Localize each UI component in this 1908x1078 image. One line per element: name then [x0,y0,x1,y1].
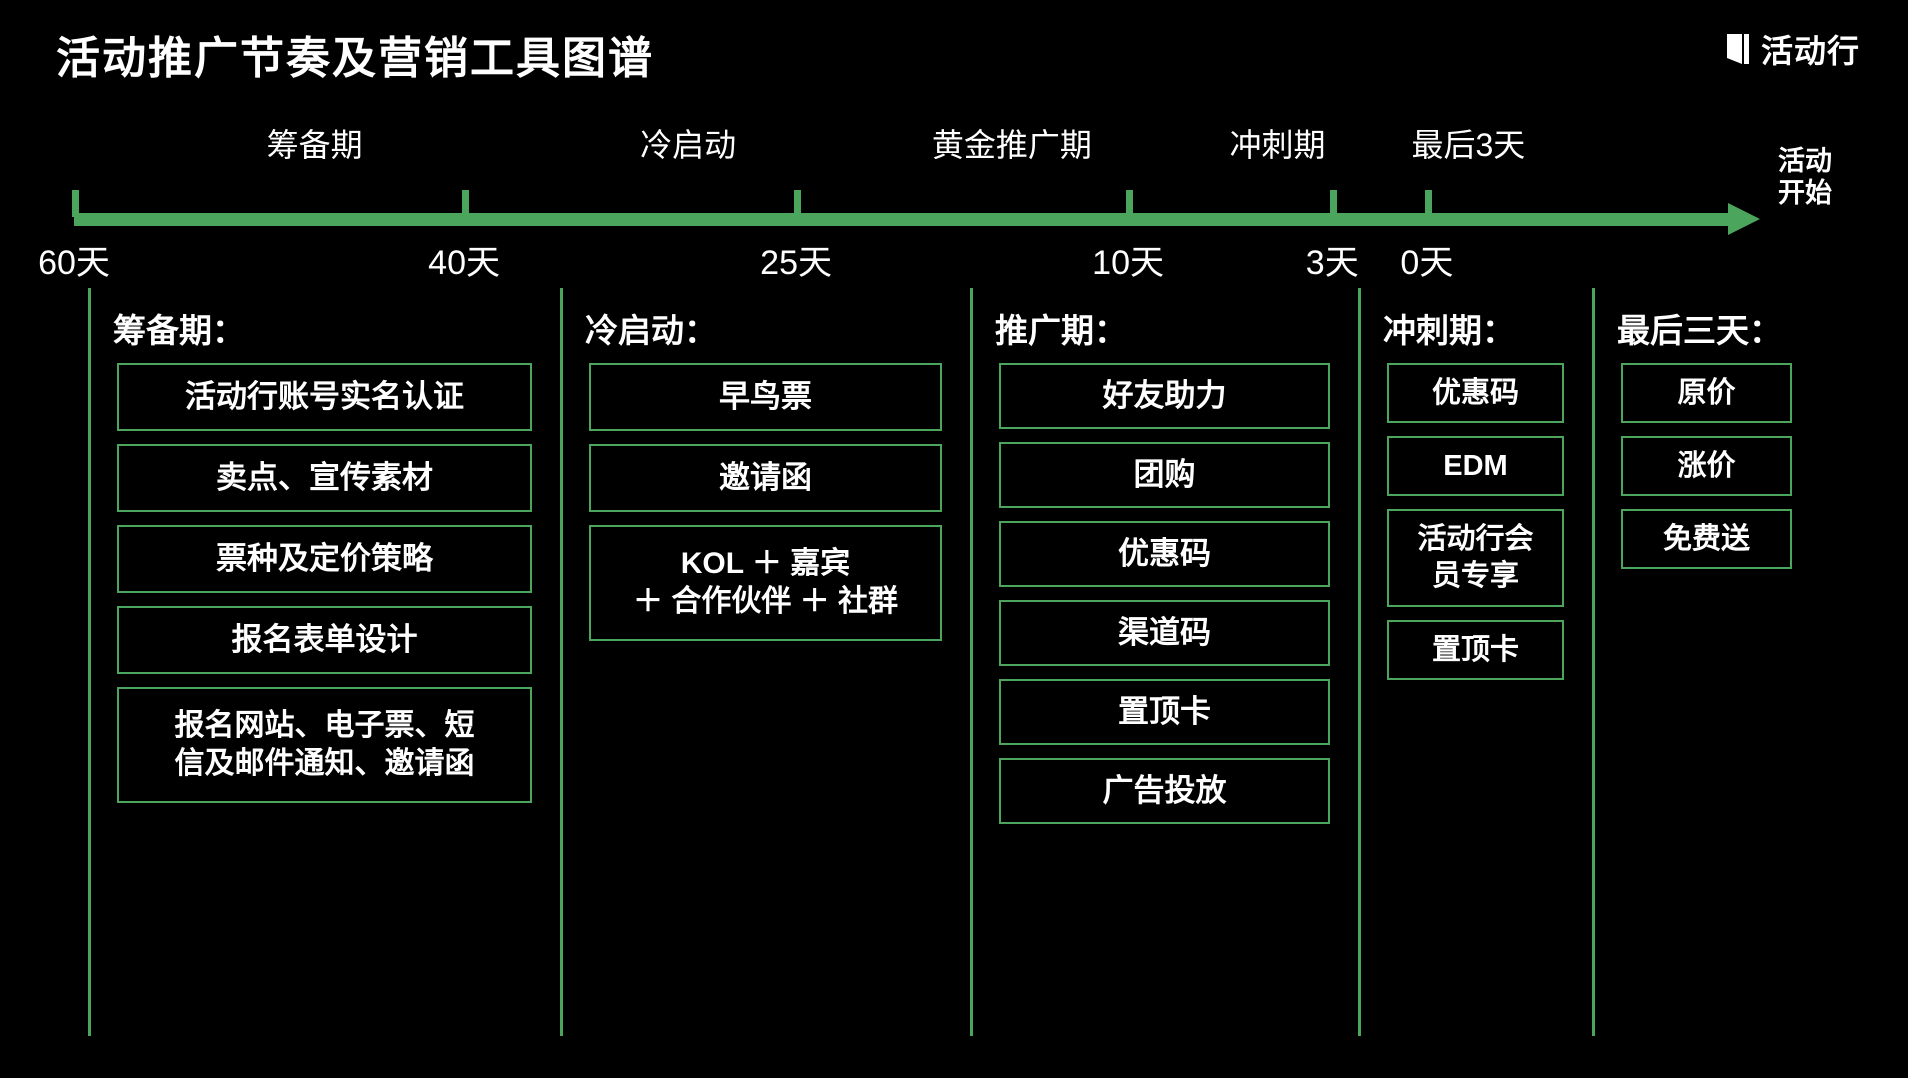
timeline-phase-label: 冲刺期 [1229,120,1325,166]
phase-columns: 筹备期：活动行账号实名认证卖点、宣传素材票种及定价策略报名表单设计报名网站、电子… [0,288,1908,1048]
phase-item-box[interactable]: 活动行会 员专享 [1387,509,1564,607]
timeline-tick [1330,190,1337,217]
timeline-arrow-icon [1728,203,1760,235]
phase-item-box[interactable]: 置顶卡 [999,679,1330,745]
brand-name: 活动行 [1761,26,1860,72]
phase-column: 冲刺期：优惠码EDM活动行会 员专享置顶卡 [1358,288,1586,1036]
phase-item-box[interactable]: 票种及定价策略 [117,525,532,593]
timeline-phase-label: 冷启动 [640,120,736,166]
phase-item-box[interactable]: 早鸟票 [589,363,942,431]
timeline-day-label: 25天 [760,235,832,284]
phase-item-box[interactable]: 优惠码 [999,521,1330,587]
phase-column: 冷启动：早鸟票邀请函KOL ＋ 嘉宾 ＋ 合作伙伴 ＋ 社群 [560,288,964,1036]
timeline-day-label: 60天 [38,235,110,284]
phase-item-box[interactable]: 免费送 [1621,509,1792,569]
timeline-phase-label: 最后3天 [1411,120,1525,166]
phase-item-box[interactable]: 涨价 [1621,436,1792,496]
phase-item-box[interactable]: 原价 [1621,363,1792,423]
phase-column: 最后三天：原价涨价免费送 [1592,288,1814,1036]
phase-item-box[interactable]: 置顶卡 [1387,620,1564,680]
timeline-end-label-line1: 活动 [1778,146,1858,178]
phase-item-box[interactable]: 报名网站、电子票、短 信及邮件通知、邀请函 [117,687,532,803]
phase-item-list: 早鸟票邀请函KOL ＋ 嘉宾 ＋ 合作伙伴 ＋ 社群 [589,363,942,641]
timeline-day-label: 40天 [428,235,500,284]
phase-item-box[interactable]: KOL ＋ 嘉宾 ＋ 合作伙伴 ＋ 社群 [589,525,942,641]
phase-item-box[interactable]: 好友助力 [999,363,1330,429]
phase-item-list: 活动行账号实名认证卖点、宣传素材票种及定价策略报名表单设计报名网站、电子票、短 … [117,363,532,803]
timeline-day-label: 0天 [1400,235,1453,284]
phase-column-title: 冷启动： [585,304,717,352]
phase-column-title: 筹备期： [113,304,245,352]
book-logo-icon [1725,32,1751,66]
phase-column: 推广期：好友助力团购优惠码渠道码置顶卡广告投放 [970,288,1352,1036]
timeline-tick [462,190,469,217]
phase-item-box[interactable]: 卖点、宣传素材 [117,444,532,512]
phase-item-box[interactable]: 报名表单设计 [117,606,532,674]
timeline: 筹备期冷启动黄金推广期冲刺期最后3天 60天40天25天10天3天0天 活动 开… [0,108,1908,288]
phase-item-box[interactable]: 优惠码 [1387,363,1564,423]
phase-item-box[interactable]: 活动行账号实名认证 [117,363,532,431]
brand-logo: 活动行 [1725,26,1860,72]
phase-item-list: 好友助力团购优惠码渠道码置顶卡广告投放 [999,363,1330,824]
phase-column-title: 冲刺期： [1383,304,1515,352]
timeline-phase-label: 黄金推广期 [932,120,1092,166]
page-header: 活动推广节奏及营销工具图谱 活动行 [0,0,1908,108]
page-title: 活动推广节奏及营销工具图谱 [56,22,654,86]
timeline-tick [1425,190,1432,217]
timeline-end-label: 活动 开始 [1778,146,1858,210]
timeline-day-label: 10天 [1092,235,1164,284]
timeline-phase-label: 筹备期 [267,120,363,166]
phase-column-title: 最后三天： [1617,304,1782,352]
timeline-day-label: 3天 [1306,235,1359,284]
phase-item-list: 原价涨价免费送 [1621,363,1792,569]
timeline-tick [794,190,801,217]
phase-item-box[interactable]: 渠道码 [999,600,1330,666]
timeline-tick [72,190,79,217]
timeline-bar [74,213,1734,226]
phase-item-box[interactable]: EDM [1387,436,1564,496]
phase-item-box[interactable]: 团购 [999,442,1330,508]
phase-item-list: 优惠码EDM活动行会 员专享置顶卡 [1387,363,1564,680]
phase-item-box[interactable]: 广告投放 [999,758,1330,824]
phase-item-box[interactable]: 邀请函 [589,444,942,512]
phase-column-title: 推广期： [995,304,1127,352]
timeline-end-label-line2: 开始 [1778,178,1858,210]
phase-column: 筹备期：活动行账号实名认证卖点、宣传素材票种及定价策略报名表单设计报名网站、电子… [88,288,554,1036]
timeline-tick [1126,190,1133,217]
